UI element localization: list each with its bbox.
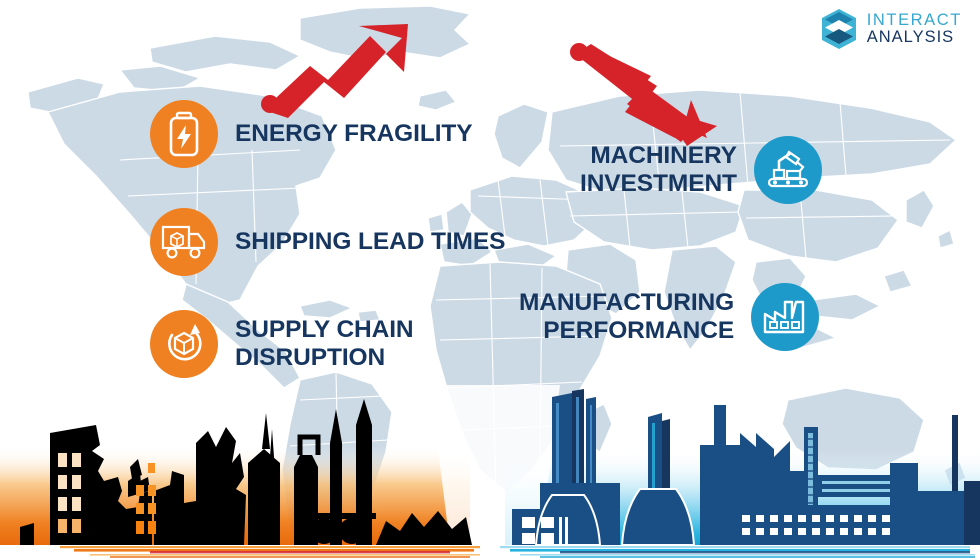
supply-chain-disruption-badge (150, 310, 218, 378)
item-machinery-investment[interactable]: MACHINERY INVESTMENT (580, 136, 822, 204)
battery-lightning-icon (164, 111, 204, 157)
infographic-canvas: INTERACT ANALYSIS ENERGY FRAGILITY (0, 0, 980, 560)
machinery-investment-badge (754, 136, 822, 204)
item-shipping-lead-times-label: SHIPPING LEAD TIMES (235, 228, 505, 256)
brand-logo[interactable]: INTERACT ANALYSIS (820, 8, 962, 50)
item-energy-fragility[interactable]: ENERGY FRAGILITY (150, 100, 473, 168)
logo-text-line2: ANALYSIS (867, 29, 962, 46)
item-machinery-investment-label: MACHINERY INVESTMENT (580, 142, 737, 198)
factory-icon (762, 298, 808, 336)
item-energy-fragility-label: ENERGY FRAGILITY (235, 120, 473, 148)
item-supply-chain-disruption[interactable]: SUPPLY CHAIN DISRUPTION (150, 310, 414, 378)
skyline-band (0, 385, 980, 560)
item-supply-chain-disruption-label: SUPPLY CHAIN DISRUPTION (235, 316, 414, 372)
item-manufacturing-performance-label: MANUFACTURING PERFORMANCE (519, 289, 734, 345)
manufacturing-performance-badge (751, 283, 819, 351)
bottom-streak-lines (0, 545, 980, 560)
delivery-truck-box-icon (161, 223, 207, 261)
trend-down-arrow (565, 42, 720, 150)
stacked-diamond-hexagon-icon (820, 8, 858, 50)
item-shipping-lead-times[interactable]: SHIPPING LEAD TIMES (150, 208, 505, 276)
robot-arm-conveyor-icon (765, 149, 811, 191)
logo-text-line1: INTERACT (867, 12, 962, 29)
item-manufacturing-performance[interactable]: MANUFACTURING PERFORMANCE (519, 283, 819, 351)
shipping-lead-times-badge (150, 208, 218, 276)
energy-fragility-badge (150, 100, 218, 168)
box-circular-arrow-icon (162, 322, 206, 366)
